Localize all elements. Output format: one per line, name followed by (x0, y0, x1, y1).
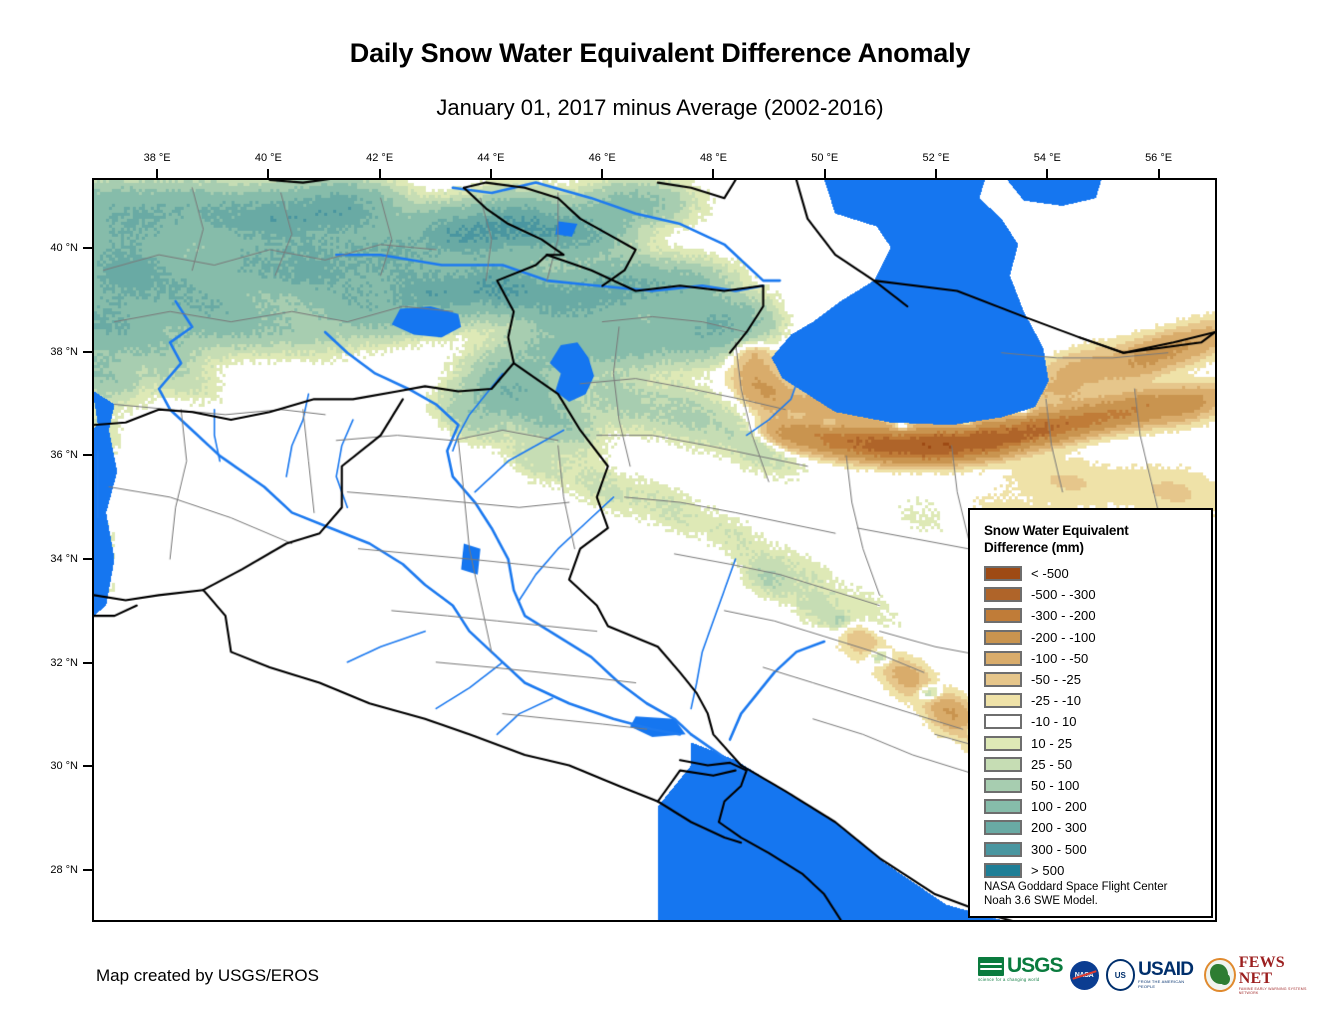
legend-title-line1: Snow Water Equivalent (984, 522, 1211, 539)
legend-swatch (984, 863, 1022, 878)
legend-title: Snow Water Equivalent Difference (mm) (984, 522, 1211, 556)
lon-tick-42 (379, 169, 381, 178)
lon-label-40: 40 °E (255, 152, 282, 164)
legend-label: 100 - 200 (1031, 799, 1087, 814)
lon-label-56: 56 °E (1145, 152, 1172, 164)
lon-label-38: 38 °E (144, 152, 171, 164)
legend-swatch (984, 799, 1022, 814)
lon-label-46: 46 °E (589, 152, 616, 164)
lat-label-32: 32 °N (50, 657, 78, 669)
lat-tick-40 (83, 247, 92, 249)
lat-tick-30 (83, 765, 92, 767)
usaid-logo: US USAID FROM THE AMERICAN PEOPLE (1106, 956, 1198, 994)
legend-label: -25 - -10 (1031, 693, 1081, 708)
legend-label: 200 - 300 (1031, 820, 1087, 835)
legend-row: > 500 (984, 860, 1211, 881)
lat-tick-32 (83, 662, 92, 664)
lat-label-30: 30 °N (50, 760, 78, 772)
lon-tick-52 (935, 169, 937, 178)
legend-source-note: NASA Goddard Space Flight Center Noah 3.… (984, 880, 1167, 908)
legend-row: 50 - 100 (984, 775, 1211, 796)
usgs-wave-icon (978, 957, 1004, 976)
usaid-seal-icon: US (1106, 959, 1136, 991)
usaid-tagline: FROM THE AMERICAN PEOPLE (1138, 979, 1197, 989)
legend-label: > 500 (1031, 863, 1064, 878)
legend-title-line2: Difference (mm) (984, 539, 1211, 556)
lon-tick-38 (156, 169, 158, 178)
legend-label: < -500 (1031, 566, 1069, 581)
legend-label: 50 - 100 (1031, 778, 1080, 793)
lon-tick-50 (824, 169, 826, 178)
lon-tick-44 (490, 169, 492, 178)
lon-label-44: 44 °E (477, 152, 504, 164)
legend-swatch (984, 587, 1022, 602)
lon-tick-56 (1158, 169, 1160, 178)
legend-label: -500 - -300 (1031, 587, 1096, 602)
legend-panel: Snow Water Equivalent Difference (mm) < … (968, 508, 1213, 918)
legend-swatch (984, 842, 1022, 857)
usgs-wordmark: USGS (1007, 956, 1063, 976)
legend-label: -100 - -50 (1031, 651, 1088, 666)
lat-label-34: 34 °N (50, 553, 78, 565)
legend-swatch (984, 736, 1022, 751)
legend-row: 200 - 300 (984, 817, 1211, 838)
legend-swatch (984, 693, 1022, 708)
page-title: Daily Snow Water Equivalent Difference A… (0, 38, 1320, 69)
legend-row: -25 - -10 (984, 690, 1211, 711)
legend-row: -500 - -300 (984, 584, 1211, 605)
lat-tick-34 (83, 558, 92, 560)
map-page: Daily Snow Water Equivalent Difference A… (0, 0, 1320, 1020)
legend-label: -50 - -25 (1031, 672, 1081, 687)
legend-label: -10 - 10 (1031, 714, 1077, 729)
legend-swatch (984, 566, 1022, 581)
legend-swatch (984, 714, 1022, 729)
lon-label-50: 50 °E (811, 152, 838, 164)
legend-row: 300 - 500 (984, 838, 1211, 859)
legend-swatch (984, 630, 1022, 645)
lat-label-28: 28 °N (50, 864, 78, 876)
lon-tick-48 (712, 169, 714, 178)
legend-swatch (984, 608, 1022, 623)
nasa-meatball-icon: NASA (1070, 961, 1099, 990)
legend-row: 100 - 200 (984, 796, 1211, 817)
legend-label: -200 - -100 (1031, 630, 1096, 645)
legend-row: -200 - -100 (984, 627, 1211, 648)
map-credit: Map created by USGS/EROS (96, 966, 319, 986)
legend-swatch (984, 778, 1022, 793)
page-subtitle: January 01, 2017 minus Average (2002-201… (0, 95, 1320, 121)
usaid-wordmark: USAID (1138, 961, 1197, 979)
legend-row: 10 - 25 (984, 733, 1211, 754)
fews-net-logo: FEWS NET FAMINE EARLY WARNING SYSTEMS NE… (1204, 956, 1320, 994)
legend-row: -50 - -25 (984, 669, 1211, 690)
legend-label: 300 - 500 (1031, 842, 1087, 857)
legend-swatch (984, 672, 1022, 687)
legend-row: -10 - 10 (984, 711, 1211, 732)
legend-row: < -500 (984, 563, 1211, 584)
lat-label-40: 40 °N (50, 242, 78, 254)
lat-label-36: 36 °N (50, 449, 78, 461)
legend-swatch (984, 651, 1022, 666)
lon-label-52: 52 °E (923, 152, 950, 164)
fews-tagline: FAMINE EARLY WARNING SYSTEMS NETWORK (1239, 987, 1320, 995)
lon-label-48: 48 °E (700, 152, 727, 164)
lat-tick-38 (83, 351, 92, 353)
legend-swatch (984, 757, 1022, 772)
nasa-wordmark: NASA (1075, 972, 1094, 979)
nasa-logo: NASA (1070, 956, 1099, 994)
fews-wordmark: FEWS NET (1239, 955, 1320, 987)
agency-logo-bar: USGS science for a changing world NASA U… (978, 954, 1320, 996)
lon-label-42: 42 °E (366, 152, 393, 164)
legend-swatch (984, 820, 1022, 835)
legend-label: -300 - -200 (1031, 608, 1096, 623)
lat-tick-28 (83, 869, 92, 871)
lon-tick-46 (601, 169, 603, 178)
globe-icon (1204, 958, 1235, 992)
legend-row: -100 - -50 (984, 648, 1211, 669)
legend-label: 25 - 50 (1031, 757, 1072, 772)
legend-row: 25 - 50 (984, 754, 1211, 775)
lon-label-54: 54 °E (1034, 152, 1061, 164)
usgs-logo: USGS science for a changing world (978, 956, 1063, 994)
legend-label: 10 - 25 (1031, 736, 1072, 751)
lon-tick-54 (1046, 169, 1048, 178)
lon-tick-40 (267, 169, 269, 178)
legend-row: -300 - -200 (984, 605, 1211, 626)
lat-label-38: 38 °N (50, 346, 78, 358)
lat-tick-36 (83, 454, 92, 456)
legend-swatch-list: < -500-500 - -300-300 - -200-200 - -100-… (984, 563, 1211, 881)
usgs-tagline: science for a changing world (978, 977, 1039, 982)
